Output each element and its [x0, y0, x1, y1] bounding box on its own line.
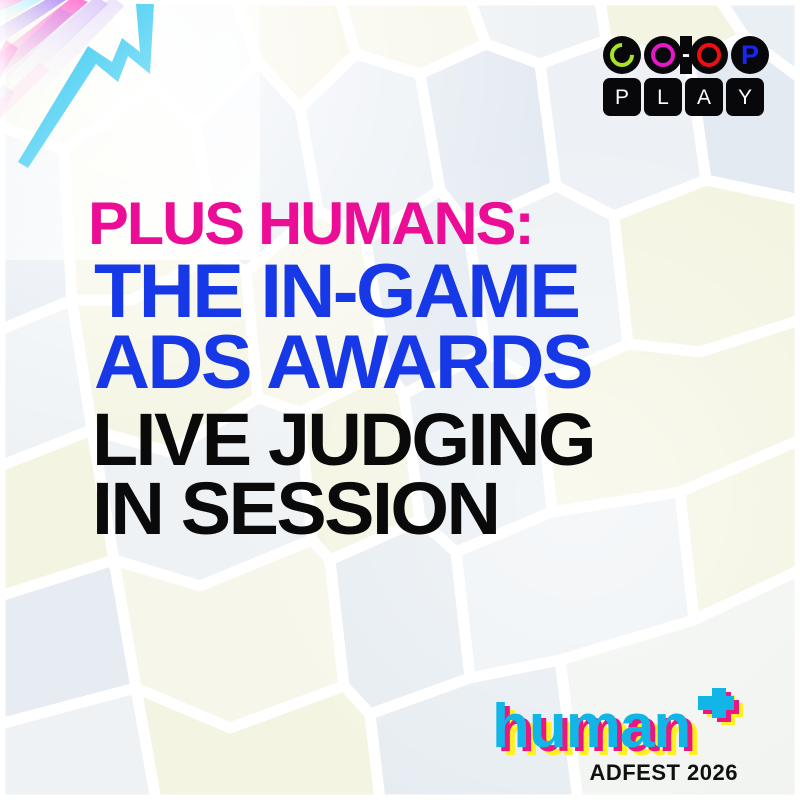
- human-wordmark: human human human: [492, 694, 760, 760]
- plus-glyph-icon: [692, 688, 758, 744]
- play-letter-p: P: [615, 87, 629, 108]
- play-letter-y: Y: [738, 87, 752, 108]
- coop-logo-row-coop: - P: [603, 36, 771, 74]
- headline-line-2: THE IN-GAME: [94, 257, 741, 327]
- co-op-play-logo[interactable]: - P P L A Y: [603, 36, 771, 128]
- play-tile-y: Y: [726, 78, 764, 116]
- play-tile-l: L: [644, 78, 682, 116]
- coop-logo-row-play: P L A Y: [603, 78, 771, 116]
- play-tile-a: A: [685, 78, 723, 116]
- adfest-tagline: ADFEST 2026: [589, 760, 738, 786]
- coop-letter-p: P: [741, 42, 759, 69]
- coop-tile-o2: [690, 36, 728, 74]
- letter-c-ring-icon: [605, 38, 639, 72]
- coop-tile-c: [603, 36, 641, 74]
- headline-line-5: IN SESSION: [92, 475, 741, 543]
- headline-line-3: ADS AWARDS: [94, 328, 741, 398]
- letter-o-ring-icon-2: [697, 43, 721, 67]
- play-letter-l: L: [657, 87, 669, 108]
- coop-tile-p: P: [731, 36, 769, 74]
- headline-line-1: PLUS HUMANS:: [88, 196, 741, 251]
- letter-o-ring-icon: [651, 43, 675, 67]
- hyphen-glyph: -: [682, 41, 690, 69]
- human-wordmark-cyan-layer: human: [492, 694, 690, 760]
- headline-line-4: LIVE JUDGING: [92, 406, 741, 474]
- poster-canvas: - P P L A Y PLUS HUMANS: TH: [0, 0, 800, 800]
- headline-block: PLUS HUMANS: THE IN-GAME ADS AWARDS LIVE…: [88, 196, 728, 543]
- play-letter-a: A: [697, 87, 711, 108]
- human-plus-adfest-logo[interactable]: human human human ADFEST 2026: [492, 694, 760, 794]
- play-tile-p: P: [603, 78, 641, 116]
- coop-tile-o1: [644, 36, 682, 74]
